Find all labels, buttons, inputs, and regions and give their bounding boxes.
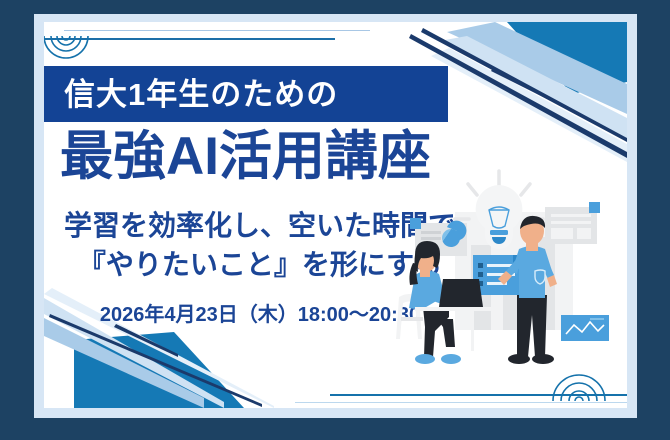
bottom-thin-rule: [295, 402, 627, 403]
poster-root: 信大1年生のための 最強AI活用講座 学習を効率化し、空いた時間で 『やりたいこ…: [0, 0, 670, 440]
top-thin-rule: [64, 30, 370, 31]
concentric-arc-top-left-icon: [44, 36, 94, 70]
eyebrow-text: 信大1年生のための: [64, 79, 338, 110]
eyebrow-banner: 信大1年生のための: [44, 66, 448, 122]
ai-learning-illustration: [393, 167, 623, 382]
page-title: 最強AI活用講座: [60, 130, 431, 183]
concentric-arc-bottom-right-icon: [547, 365, 611, 401]
poster-canvas: 信大1年生のための 最強AI活用講座 学習を効率化し、空いた時間で 『やりたいこ…: [44, 22, 627, 408]
